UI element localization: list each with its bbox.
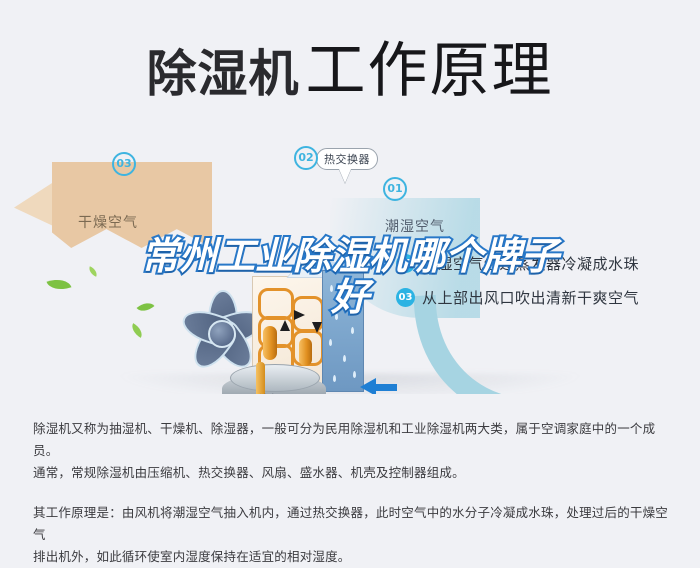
- water-droplet-icon: [333, 375, 336, 382]
- step-list: 02 潮湿空气经过蒸发器冷凝成水珠 03 从上部出风口吹出清新干爽空气: [396, 246, 686, 314]
- water-droplet-icon: [329, 339, 332, 346]
- list-item: 03 从上部出风口吹出清新干爽空气: [396, 280, 686, 314]
- paragraph-2-line-2: 排出机外，如此循环使室内湿度保持在适宜的相对湿度。: [33, 546, 673, 568]
- air-intake-arrow-tail-icon: [375, 384, 397, 391]
- water-droplet-icon: [353, 371, 356, 378]
- humid-air-label: 潮湿空气: [385, 216, 445, 236]
- air-intake-arrow-icon: [360, 378, 376, 394]
- heat-exchanger-callout: 热交换器: [316, 148, 378, 170]
- leaf-icon: [129, 323, 146, 338]
- leaf-icon: [47, 275, 72, 294]
- diagram-badge-01: 01: [383, 177, 407, 201]
- dry-air-arrow-icon: [52, 162, 212, 248]
- page-title-part1: 除湿机: [147, 45, 300, 103]
- leaf-icon: [87, 266, 99, 276]
- fan-hub: [208, 320, 236, 348]
- compressor-pipe: [256, 362, 265, 394]
- water-droplet-icon: [330, 285, 333, 292]
- diagram-badge-02: 02: [294, 146, 318, 170]
- list-item: 02 潮湿空气经过蒸发器冷凝成水珠: [396, 246, 686, 280]
- paragraph-2-line-1: 其工作原理是：由风机将潮湿空气抽入机内，通过热交换器，此时空气中的水分子冷凝成水…: [33, 502, 673, 546]
- body-copy: 除湿机又称为抽湿机、干燥机、除湿器，一般可分为民用除湿机和工业除湿机两大类，属于…: [33, 418, 673, 568]
- step-number-badge: 03: [396, 288, 415, 307]
- dry-air-label: 干燥空气: [78, 212, 138, 232]
- water-droplet-icon: [343, 355, 346, 362]
- page-title: 除湿机工作原理: [0, 22, 700, 109]
- page-title-part2: 工作原理: [306, 36, 554, 106]
- water-droplet-icon: [335, 313, 338, 320]
- refrigerant-cylinder-icon: [263, 326, 277, 360]
- water-droplet-icon: [345, 297, 348, 304]
- compressor-top: [230, 364, 320, 392]
- water-droplet-icon: [351, 327, 354, 334]
- step-label: 潮湿空气经过蒸发器冷凝成水珠: [422, 253, 639, 274]
- paragraph-spacer: [33, 484, 673, 502]
- leaf-icon: [137, 298, 155, 315]
- flow-arrow-down-icon: [312, 322, 322, 333]
- flow-arrow-up-icon: [280, 320, 290, 331]
- flow-arrow-right-icon: [294, 310, 305, 320]
- refrigerant-cylinder-icon: [299, 338, 312, 366]
- paragraph-1-line-1: 除湿机又称为抽湿机、干燥机、除湿器，一般可分为民用除湿机和工业除湿机两大类，属于…: [33, 418, 673, 462]
- step-label: 从上部出风口吹出清新干爽空气: [422, 287, 639, 308]
- diagram-badge-03: 03: [112, 152, 136, 176]
- compressor-label: 压缩机: [246, 391, 282, 394]
- paragraph-1-line-2: 通常，常规除湿机由压缩机、热交换器、风扇、盛水器、机壳及控制器组成。: [33, 462, 673, 484]
- page-root: 除湿机工作原理: [0, 0, 700, 566]
- step-number-badge: 02: [396, 254, 415, 273]
- evaporator-panel: [322, 270, 364, 392]
